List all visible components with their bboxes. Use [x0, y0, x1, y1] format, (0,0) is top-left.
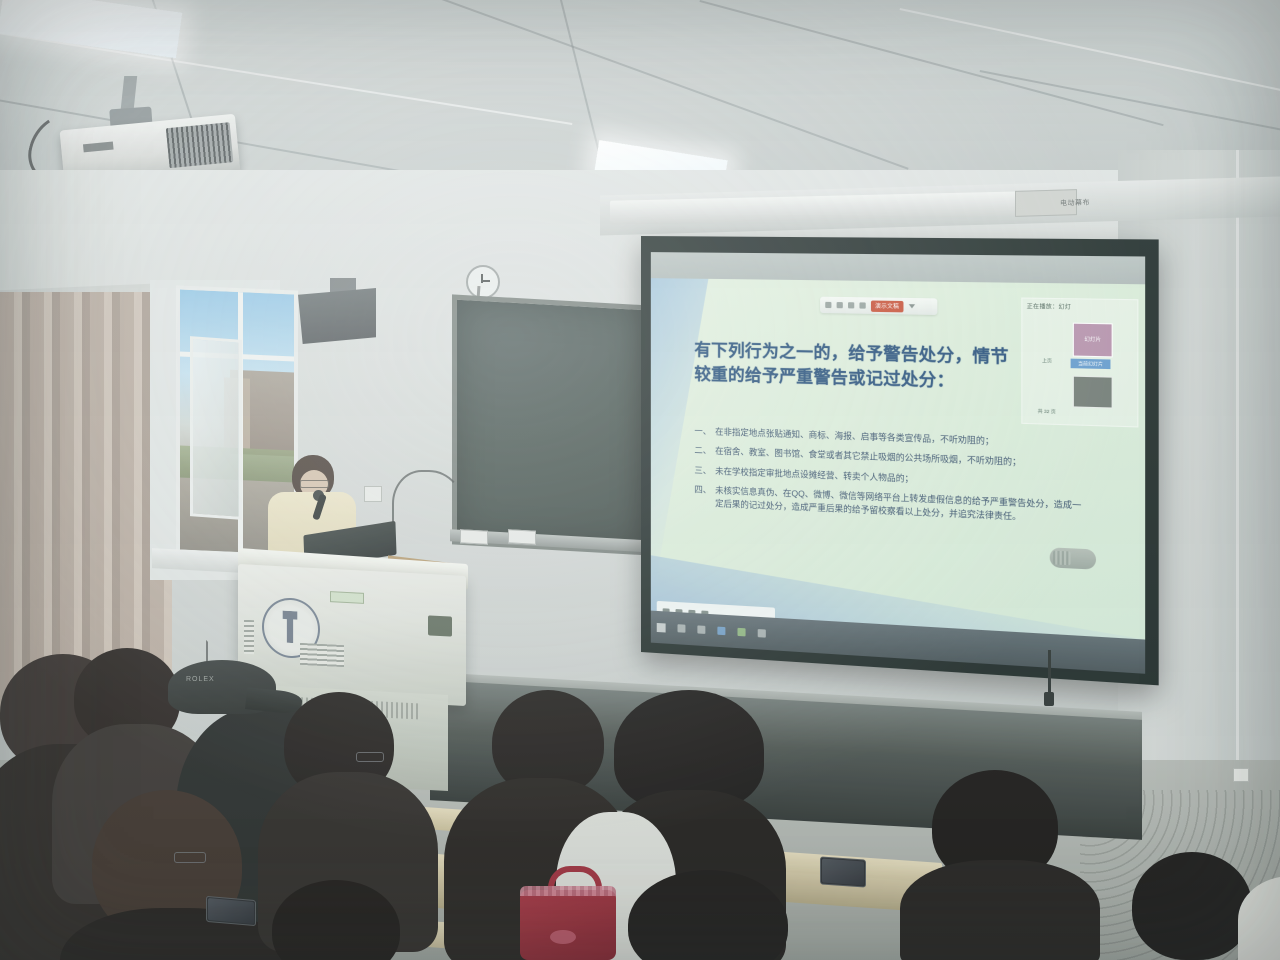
taskbar-icon-extra[interactable]	[758, 629, 766, 638]
ceiling-light-1	[0, 0, 182, 58]
slide-thumbnail-current[interactable]: 幻灯片	[1073, 323, 1113, 358]
slide-count-label: 共 32 页	[1038, 409, 1056, 416]
smartphone-on-desk[interactable]	[820, 856, 866, 887]
taskbar-icon-search[interactable]	[678, 624, 686, 633]
emblem-mark	[277, 610, 303, 643]
lectern-control-panel[interactable]	[428, 615, 452, 636]
projection-screen[interactable]: 有下列行为之一的，给予警告处分，情节 较重的给予严重警告或记过处分： 一、 在非…	[651, 252, 1145, 674]
selected-slide-label: 当前幻灯片	[1071, 359, 1111, 369]
chevron-down-icon[interactable]	[909, 304, 915, 308]
side-panel-header: 正在播放：幻灯	[1022, 299, 1137, 316]
slide-title: 有下列行为之一的，给予警告处分，情节 较重的给予严重警告或记过处分：	[694, 339, 1049, 397]
slide-thumbnail-label: 幻灯片	[1074, 324, 1112, 357]
presentation-toolbar[interactable]: 演示文稿	[820, 297, 937, 315]
pen-icon[interactable]	[825, 302, 831, 308]
projection-screen-frame: 有下列行为之一的，给予警告处分，情节 较重的给予严重警告或记过处分： 一、 在非…	[641, 236, 1159, 685]
lectern-vent-center	[300, 643, 344, 667]
screen-cord-weight	[1044, 692, 1054, 706]
present-button[interactable]: 演示文稿	[871, 300, 903, 312]
smartphone-on-desk-2[interactable]	[206, 896, 256, 926]
clock-minute-hand	[482, 280, 490, 282]
wall-outlet[interactable]	[364, 486, 382, 502]
lectern-vent-left	[244, 620, 254, 655]
list-item-number: 一、	[694, 425, 711, 439]
thumbnail-caption: 上页	[1042, 358, 1052, 365]
sticker-lines	[1053, 551, 1071, 566]
classroom-photo: 电动幕布 有下列行为之一的，给予警告处分，情节	[0, 0, 1280, 960]
list-item-number: 三、	[694, 464, 711, 478]
eraser-icon[interactable]	[848, 302, 854, 308]
wall-cable	[392, 470, 466, 554]
handbag-bow	[550, 930, 576, 944]
screen-pull-cord[interactable]	[1048, 650, 1051, 698]
student-head	[1132, 852, 1252, 960]
slide-body: 一、 在非指定地点张贴通知、商标、海报、启事等各类宣传品，不听劝阻的； 二、 在…	[694, 425, 1085, 534]
list-item-number: 四、	[694, 483, 711, 511]
phone-screen	[208, 898, 254, 924]
taskbar-icon-explorer[interactable]	[697, 625, 705, 634]
start-button-icon[interactable]	[657, 622, 666, 632]
lectern-label-tag	[330, 591, 364, 604]
student-glasses	[356, 752, 384, 762]
wall-clock-icon	[466, 265, 500, 299]
taskbar-icon-powerpoint[interactable]	[717, 627, 725, 636]
selected-slide-badge[interactable]: 当前幻灯片	[1071, 359, 1111, 369]
laser-icon[interactable]	[859, 302, 865, 308]
presentation-slide[interactable]: 有下列行为之一的，给予警告处分，情节 较重的给予严重警告或记过处分： 一、 在非…	[651, 278, 1145, 639]
list-item-number: 二、	[694, 444, 711, 458]
beam-label: 电动幕布	[1060, 198, 1090, 209]
wall-outlet-right[interactable]	[1233, 768, 1249, 782]
handbag-trim	[520, 886, 616, 896]
wall-speaker-icon	[298, 288, 376, 344]
wall-seam	[1236, 150, 1239, 840]
student-glasses	[174, 852, 206, 863]
presenter-glasses	[300, 480, 329, 488]
speaker-bracket	[330, 278, 356, 292]
phone-screen	[822, 859, 864, 886]
cap-logo-text: ROLEX	[186, 676, 215, 683]
red-handbag[interactable]	[520, 890, 616, 960]
open-window-pane[interactable]	[190, 336, 242, 520]
slide-side-panel[interactable]: 正在播放：幻灯 幻灯片 上页 当前幻灯片 共 32 页	[1021, 298, 1138, 428]
taskbar-icon-app[interactable]	[737, 628, 745, 637]
slide-thumbnail-next[interactable]	[1073, 376, 1113, 409]
screen-marker-sticker	[1050, 547, 1096, 569]
projector-vent	[166, 122, 234, 168]
student-torso	[900, 860, 1100, 960]
chalk-box-2[interactable]	[508, 529, 536, 545]
highlighter-icon[interactable]	[837, 302, 843, 308]
blackboard	[452, 294, 652, 555]
